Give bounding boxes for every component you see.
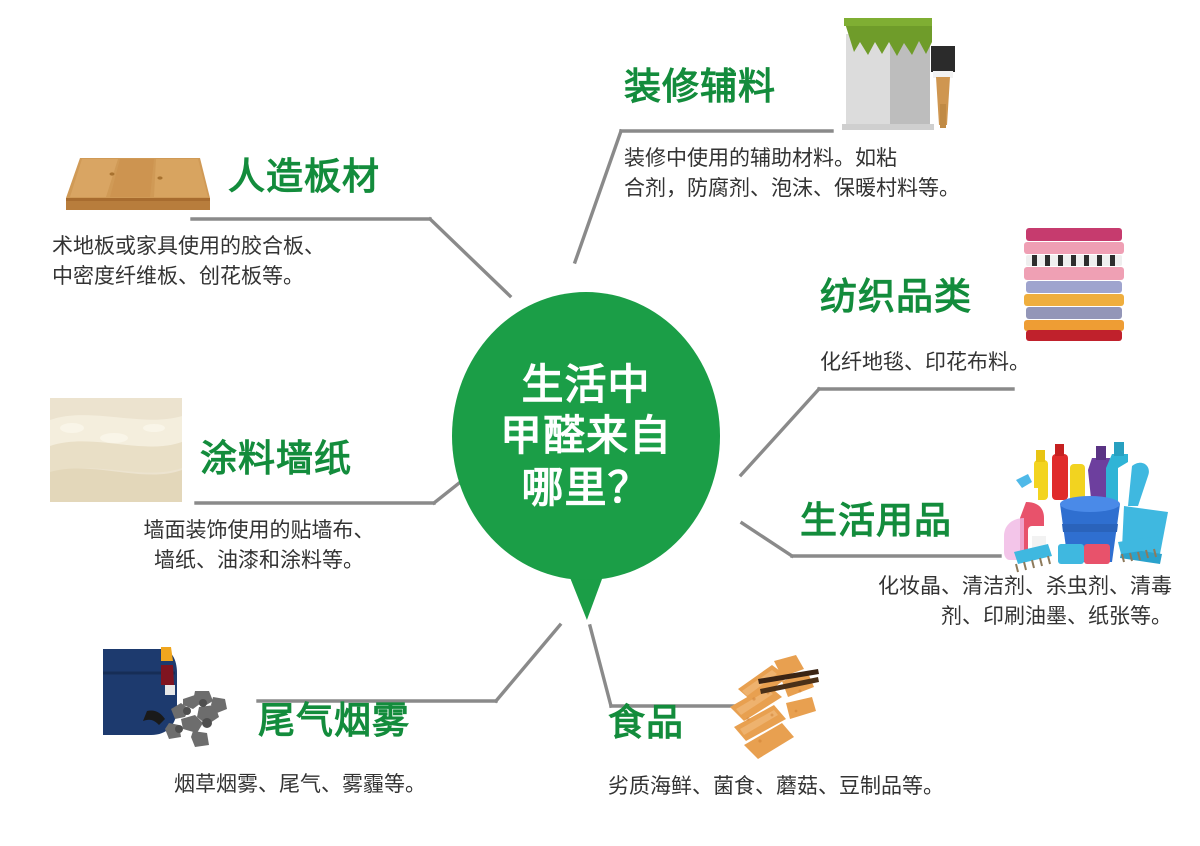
- node-title-textiles: 纺织品类: [820, 278, 1035, 315]
- wallpaper-roll-icon: [50, 398, 182, 502]
- wood-board-icon: [50, 152, 210, 222]
- center-bubble: 生活中 甲醛来自 哪里？: [452, 292, 720, 580]
- connector-line-decoration: [575, 131, 621, 262]
- node-desc-textiles: 化纤地毯、印花布料。: [820, 348, 1180, 378]
- cleaning-supplies-icon: [1000, 440, 1176, 580]
- center-title: 生活中 甲醛来自 哪里？: [500, 359, 672, 513]
- node-title-artificial-boards: 人造板材: [228, 158, 443, 195]
- node-desc-food: 劣质海鲜、菌食、蘑菇、豆制品等。: [608, 772, 1048, 802]
- node-desc-paint-wallpaper: 墙面装饰使用的贴墙布、 墙纸、油漆和涂料等。: [76, 516, 442, 576]
- node-title-decoration-materials: 装修辅料: [624, 68, 839, 105]
- node-title-food: 食品: [608, 704, 768, 741]
- node-title-paint-wallpaper: 涂料墙纸: [200, 440, 440, 477]
- node-title-exhaust-smoke: 尾气烟雾: [258, 702, 488, 739]
- node-desc-decoration-materials: 装修中使用的辅助材料。如粘 合剂，防腐剂、泡沫、保暖村料等。: [624, 144, 1054, 204]
- connector-line-food: [590, 626, 611, 706]
- infographic-canvas: 生活中 甲醛来自 哪里？ 装修辅料 装修中使用的辅助材料。如粘 合剂，防腐剂、泡…: [0, 0, 1200, 846]
- car-exhaust-icon: [95, 645, 245, 760]
- node-desc-exhaust-smoke: 烟草烟雾、尾气、雾霾等。: [100, 770, 500, 800]
- paint-can-icon: [832, 12, 960, 130]
- node-desc-household-goods: 化妆晶、清洁剂、杀虫剂、清毒 剂、印刷油墨、纸张等。: [740, 572, 1172, 632]
- connector-line-exhaust: [496, 625, 560, 701]
- connector-line-household: [742, 523, 792, 556]
- node-title-household-goods: 生活用品: [800, 502, 1015, 539]
- node-desc-artificial-boards: 术地板或家具使用的胶合板、 中密度纤维板、创花板等。: [52, 232, 452, 292]
- connector-line-textiles: [741, 389, 819, 475]
